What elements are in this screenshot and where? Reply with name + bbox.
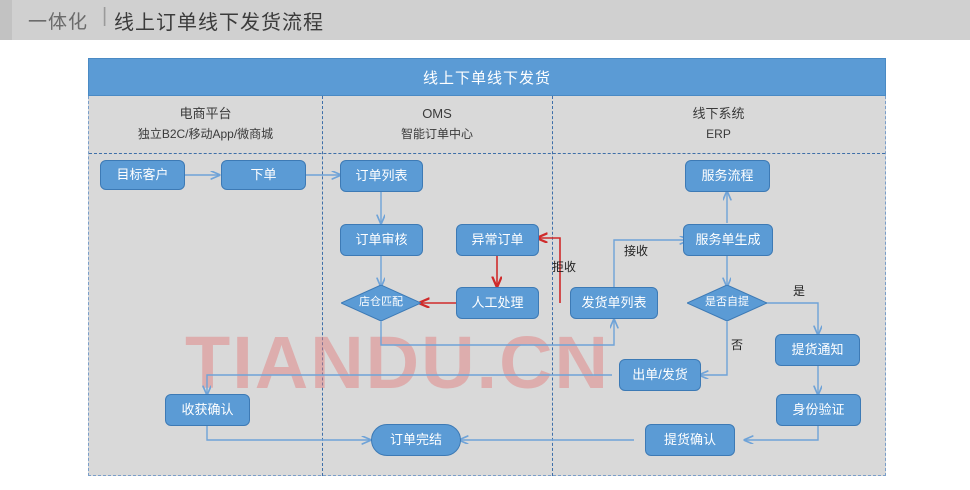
node-service-order-create[interactable]: 服务单生成 bbox=[683, 224, 773, 256]
title-separator: | bbox=[102, 5, 107, 28]
node-target-customer[interactable]: 目标客户 bbox=[100, 160, 185, 190]
page-title: 线上订单线下发货流程 bbox=[114, 6, 324, 35]
node-issue-ship[interactable]: 出单/发货 bbox=[619, 359, 701, 391]
slide-canvas: 一体化 | 线上订单线下发货流程 线上下单线下发货 电商平台 独立B2C/移动A… bbox=[0, 0, 970, 490]
node-label: 店仓匹配 bbox=[359, 297, 403, 309]
lane-subtitle-text: 独立B2C/移动App/微商城 bbox=[89, 124, 322, 144]
slide-title-bar: 一体化 | 线上订单线下发货流程 bbox=[0, 0, 970, 40]
title-prefix: 一体化 bbox=[28, 7, 88, 34]
lane-header-ecommerce: 电商平台 独立B2C/移动App/微商城 bbox=[89, 104, 322, 144]
node-order-complete[interactable]: 订单完结 bbox=[371, 424, 461, 456]
node-manual-process[interactable]: 人工处理 bbox=[456, 287, 539, 319]
flowchart-banner: 线上下单线下发货 bbox=[88, 58, 886, 96]
node-pickup-notice[interactable]: 提货通知 bbox=[775, 334, 860, 366]
node-store-match[interactable]: 店仓匹配 bbox=[341, 285, 421, 321]
lane-header-rule bbox=[89, 153, 885, 154]
lane-subtitle-text: 智能订单中心 bbox=[322, 124, 552, 144]
lane-header-oms: OMS 智能订单中心 bbox=[322, 104, 552, 144]
edge-label-reject: 拒收 bbox=[552, 258, 576, 275]
lane-header-erp: 线下系统 ERP bbox=[552, 104, 885, 144]
lane-title-text: 线下系统 bbox=[692, 106, 744, 121]
edge-label-accept: 接收 bbox=[624, 242, 648, 259]
node-receipt-confirm[interactable]: 收获确认 bbox=[165, 394, 250, 426]
node-shipment-list[interactable]: 发货单列表 bbox=[570, 287, 658, 319]
node-identity-verify[interactable]: 身份验证 bbox=[776, 394, 861, 426]
lane-title-text: OMS bbox=[422, 106, 452, 121]
node-abnormal-order[interactable]: 异常订单 bbox=[456, 224, 539, 256]
node-order-list[interactable]: 订单列表 bbox=[340, 160, 423, 192]
node-place-order[interactable]: 下单 bbox=[221, 160, 306, 190]
title-accent-bar bbox=[0, 0, 12, 40]
node-order-review[interactable]: 订单审核 bbox=[340, 224, 423, 256]
node-label: 是否自提 bbox=[705, 297, 749, 309]
node-self-pickup-decision[interactable]: 是否自提 bbox=[687, 285, 767, 321]
node-service-flow[interactable]: 服务流程 bbox=[685, 160, 770, 192]
edge-label-yes: 是 bbox=[793, 282, 805, 299]
lane-subtitle-text: ERP bbox=[552, 124, 885, 144]
lane-title-text: 电商平台 bbox=[179, 106, 231, 121]
node-pickup-confirm[interactable]: 提货确认 bbox=[645, 424, 735, 456]
edge-label-no: 否 bbox=[731, 336, 743, 353]
